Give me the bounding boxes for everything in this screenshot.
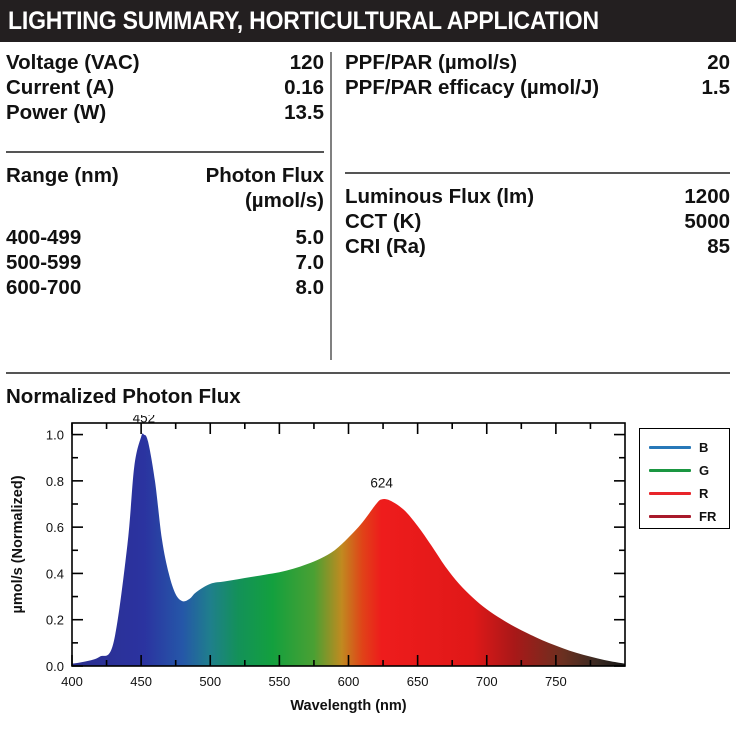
- page-title: LIGHTING SUMMARY, HORTICULTURAL APPLICAT…: [8, 7, 599, 36]
- chart-title: Normalized Photon Flux: [6, 385, 241, 409]
- table-row: 400-499 5.0: [6, 225, 324, 250]
- table-row: PPF/PAR efficacy (µmol/J) 1.5: [345, 75, 730, 100]
- specification-area: Voltage (VAC) 120 Current (A) 0.16 Power…: [0, 42, 736, 372]
- x-tick-label: 550: [269, 674, 291, 689]
- par-table: PPF/PAR (µmol/s) 20 PPF/PAR efficacy (µm…: [345, 50, 730, 100]
- legend-swatch-g: [649, 469, 691, 473]
- legend-item-g[interactable]: G: [640, 459, 729, 482]
- y-axis-title: µmol/s (Normalized): [10, 475, 26, 613]
- range-header-spacer: [6, 188, 161, 213]
- photometric-table: Luminous Flux (lm) 1200 CCT (K) 5000 CRI…: [345, 184, 730, 259]
- table-row: PPF/PAR (µmol/s) 20: [345, 50, 730, 75]
- table-header-row-units: (µmol/s): [6, 188, 324, 213]
- electrical-value-current: 0.16: [251, 75, 324, 100]
- table-header-row: Range (nm) Photon Flux: [6, 163, 324, 188]
- par-value-ppf: 20: [691, 50, 730, 75]
- header-banner: LIGHTING SUMMARY, HORTICULTURAL APPLICAT…: [0, 0, 736, 42]
- electrical-label-voltage: Voltage (VAC): [6, 50, 251, 75]
- chart-section-rule: [6, 372, 730, 374]
- par-label-ppf: PPF/PAR (µmol/s): [345, 50, 691, 75]
- legend-label-b: B: [699, 440, 708, 455]
- photometric-value-cct: 5000: [655, 209, 730, 234]
- column-divider: [330, 52, 332, 360]
- table-row: Voltage (VAC) 120: [6, 50, 324, 75]
- electrical-value-voltage: 120: [251, 50, 324, 75]
- x-tick-label: 750: [545, 674, 567, 689]
- legend-label-r: R: [699, 486, 708, 501]
- right-section-rule: [345, 172, 730, 174]
- par-label-efficacy: PPF/PAR efficacy (µmol/J): [345, 75, 691, 100]
- x-tick-label: 400: [61, 674, 83, 689]
- table-row: Current (A) 0.16: [6, 75, 324, 100]
- left-spec-column: Voltage (VAC) 120 Current (A) 0.16 Power…: [6, 50, 324, 300]
- range-label-500-599: 500-599: [6, 250, 161, 275]
- electrical-table: Voltage (VAC) 120 Current (A) 0.16 Power…: [6, 50, 324, 125]
- x-axis-title: Wavelength (nm): [290, 698, 406, 714]
- y-tick-label: 0.6: [46, 520, 64, 535]
- range-value-500-599: 7.0: [161, 250, 324, 275]
- x-tick-label: 700: [476, 674, 498, 689]
- x-tick-label: 650: [407, 674, 429, 689]
- range-value-600-700: 8.0: [161, 275, 324, 300]
- y-tick-label: 0.8: [46, 474, 64, 489]
- legend-item-fr[interactable]: FR: [640, 505, 729, 528]
- photometric-value-cri: 85: [655, 234, 730, 259]
- legend-swatch-r: [649, 492, 691, 496]
- legend-label-g: G: [699, 463, 709, 478]
- photometric-label-cct: CCT (K): [345, 209, 655, 234]
- photometric-label-luminous-flux: Luminous Flux (lm): [345, 184, 655, 209]
- range-header-right-line1: Photon Flux: [161, 163, 324, 188]
- chart-legend: B G R FR: [639, 428, 730, 529]
- legend-item-r[interactable]: R: [640, 482, 729, 505]
- table-row: Power (W) 13.5: [6, 100, 324, 125]
- spectral-distribution-plot: 4004505005506006507007500.00.20.40.60.81…: [0, 415, 736, 736]
- y-tick-label: 0.0: [46, 659, 64, 674]
- electrical-label-current: Current (A): [6, 75, 251, 100]
- photometric-value-luminous-flux: 1200: [655, 184, 730, 209]
- x-tick-label: 600: [338, 674, 360, 689]
- y-tick-label: 1.0: [46, 428, 64, 443]
- electrical-label-power: Power (W): [6, 100, 251, 125]
- legend-swatch-b: [649, 446, 691, 450]
- x-tick-label: 450: [130, 674, 152, 689]
- range-label-400-499: 400-499: [6, 225, 161, 250]
- legend-item-b[interactable]: B: [640, 436, 729, 459]
- photometric-label-cri: CRI (Ra): [345, 234, 655, 259]
- par-value-efficacy: 1.5: [691, 75, 730, 100]
- range-value-400-499: 5.0: [161, 225, 324, 250]
- legend-swatch-fr: [649, 515, 691, 519]
- range-header-right-line2: (µmol/s): [161, 188, 324, 213]
- table-row: Luminous Flux (lm) 1200: [345, 184, 730, 209]
- range-header-left: Range (nm): [6, 163, 161, 188]
- spacer-row: [6, 213, 324, 225]
- table-row: 600-700 8.0: [6, 275, 324, 300]
- table-row: CRI (Ra) 85: [345, 234, 730, 259]
- y-tick-label: 0.4: [46, 566, 64, 581]
- electrical-value-power: 13.5: [251, 100, 324, 125]
- range-label-600-700: 600-700: [6, 275, 161, 300]
- peak-annotation-452: 452: [133, 415, 156, 426]
- table-row: 500-599 7.0: [6, 250, 324, 275]
- y-tick-label: 0.2: [46, 613, 64, 628]
- x-tick-label: 500: [199, 674, 221, 689]
- range-table: Range (nm) Photon Flux (µmol/s) 400-499 …: [6, 163, 324, 300]
- legend-label-fr: FR: [699, 509, 716, 524]
- spectral-chart: 4004505005506006507007500.00.20.40.60.81…: [0, 415, 736, 736]
- table-row: CCT (K) 5000: [345, 209, 730, 234]
- right-spec-column: PPF/PAR (µmol/s) 20 PPF/PAR efficacy (µm…: [345, 50, 730, 259]
- left-section-rule: [6, 151, 324, 153]
- peak-annotation-624: 624: [370, 475, 393, 490]
